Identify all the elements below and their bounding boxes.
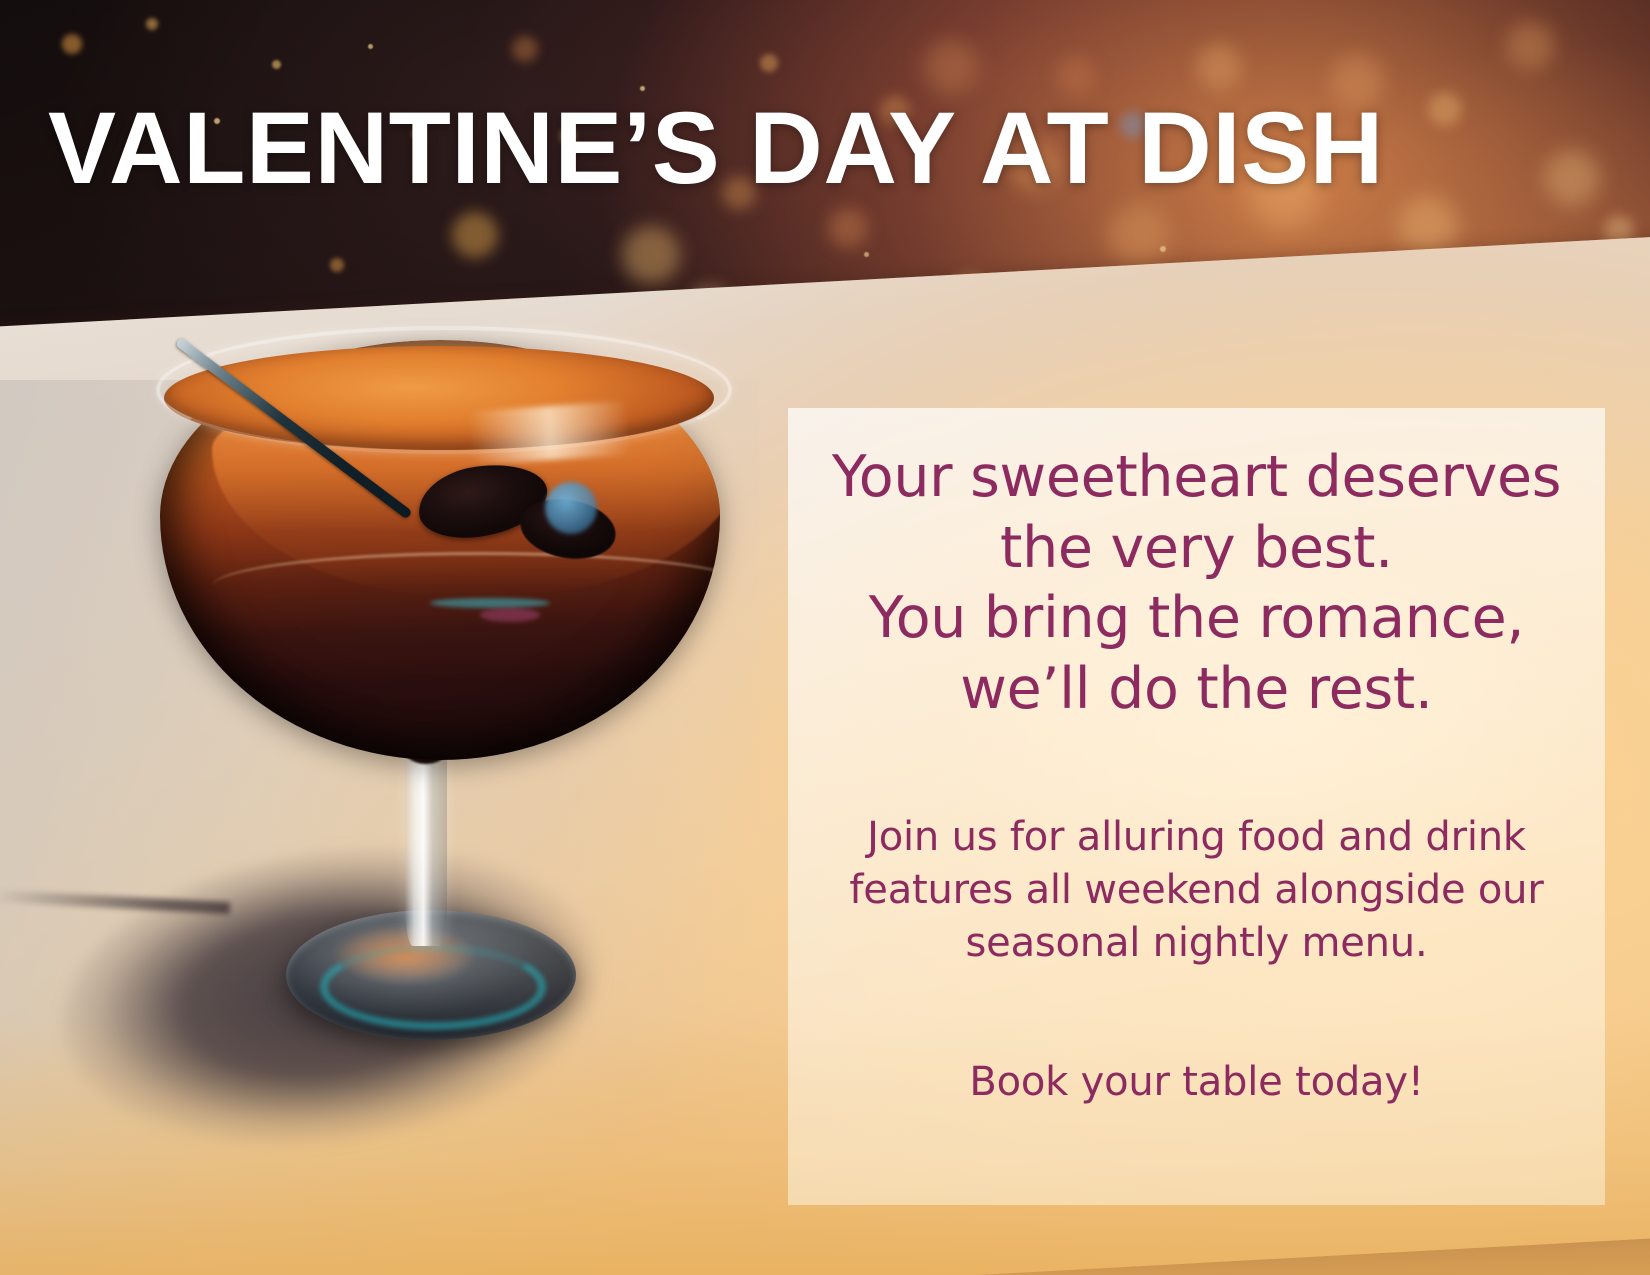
body-line-2: features all weekend alongside our xyxy=(814,864,1579,917)
lede-line-3: You bring the romance, xyxy=(814,583,1579,654)
body-paragraph: Join us for alluring food and drink feat… xyxy=(814,811,1579,971)
call-to-action: Book your table today! xyxy=(814,1056,1579,1108)
lede-line-1: Your sweetheart deserves xyxy=(814,442,1579,513)
body-line-1: Join us for alluring food and drink xyxy=(814,811,1579,864)
lede-paragraph: Your sweetheart deserves the very best. … xyxy=(814,442,1579,725)
glass-teal-glint xyxy=(430,598,550,608)
cocktail-glass-image xyxy=(120,330,760,1210)
page-title: VALENTINE’S DAY AT DISH xyxy=(48,96,1608,200)
glass-inner-wall xyxy=(212,552,720,621)
copy-panel: Your sweetheart deserves the very best. … xyxy=(788,408,1605,1205)
lede-line-2: the very best. xyxy=(814,513,1579,584)
lede-line-4: we’ll do the rest. xyxy=(814,654,1579,725)
glass-foot-teal-reflection xyxy=(320,944,546,1030)
body-line-3: seasonal nightly menu. xyxy=(814,917,1579,970)
blue-bokeh-reflection xyxy=(545,482,597,534)
glass-magenta-glint xyxy=(480,608,540,622)
valentines-poster: VALENTINE’S DAY AT DISH Your sweetheart … xyxy=(0,0,1650,1275)
